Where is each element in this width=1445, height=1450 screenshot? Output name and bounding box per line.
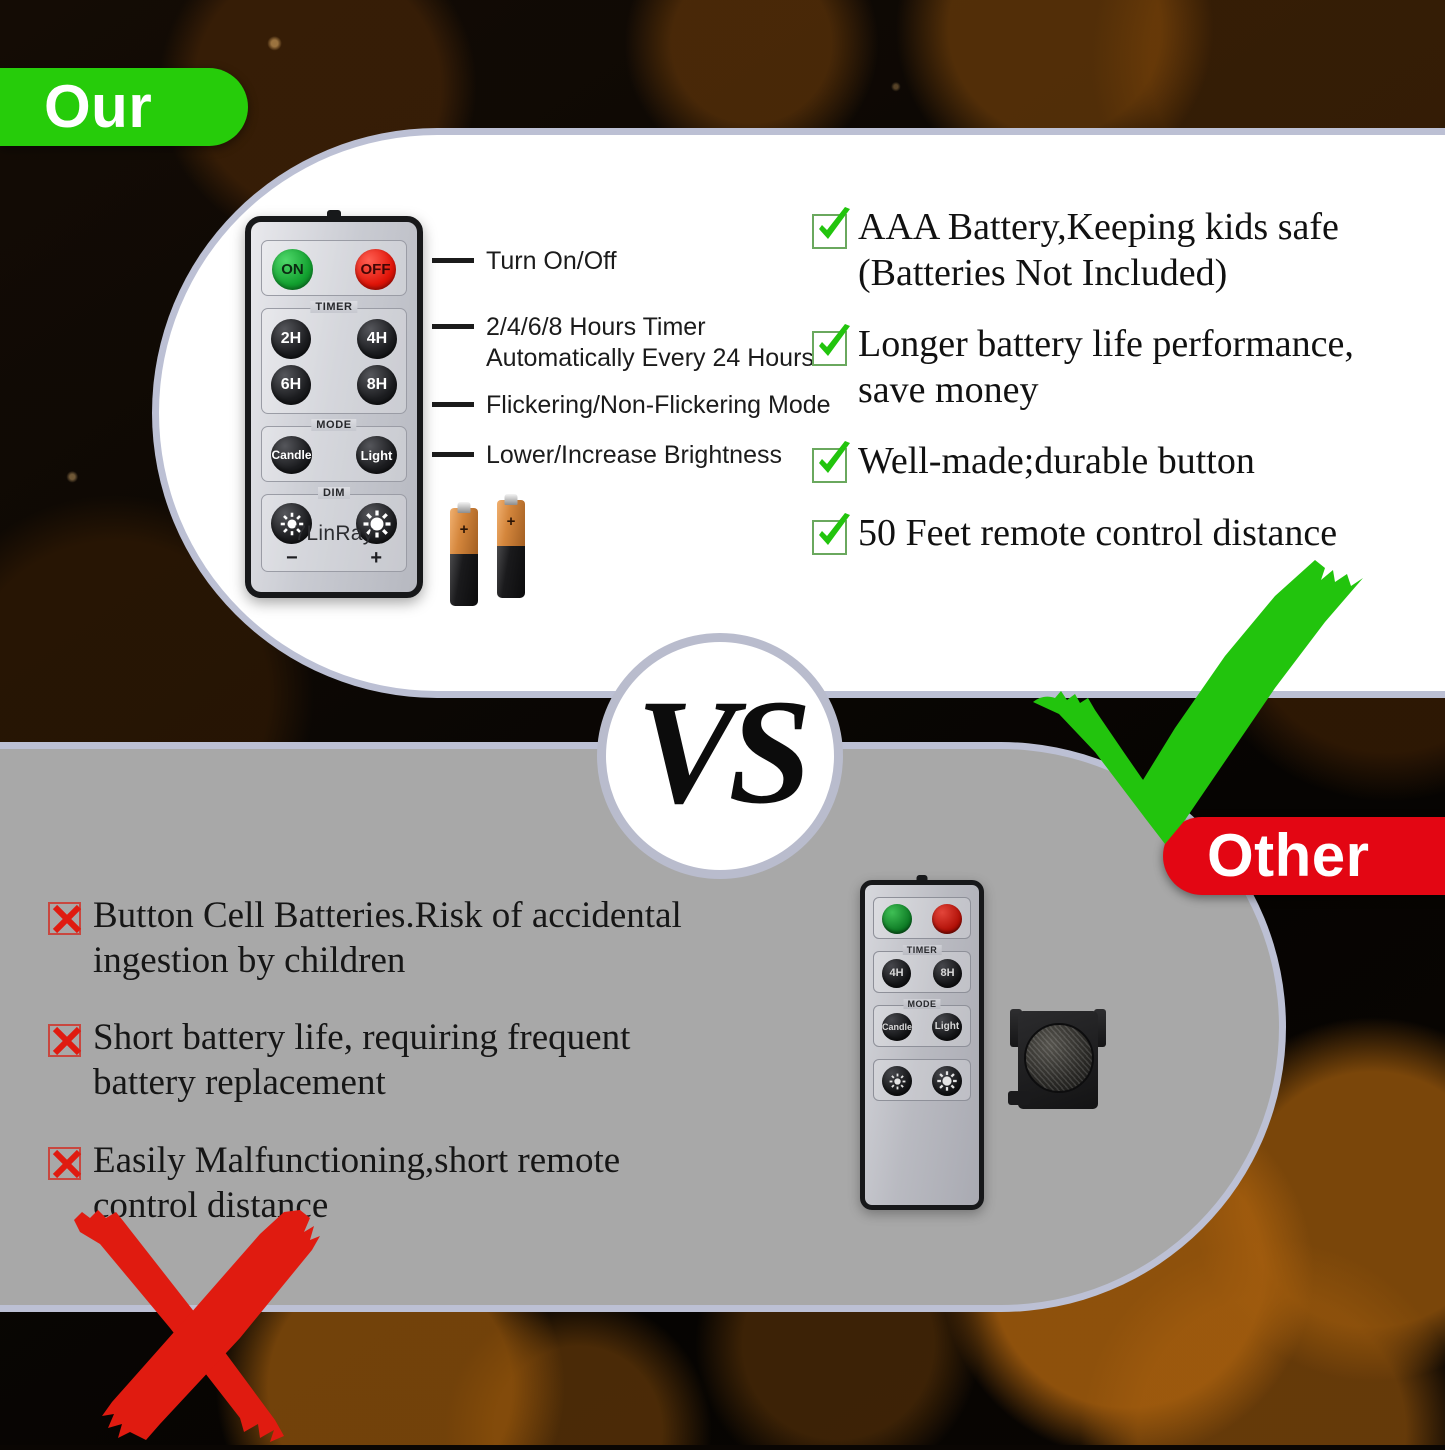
green-check-brush-icon	[1025, 548, 1370, 848]
callout-dim: Lower/Increase Brightness	[432, 440, 782, 471]
remote-ir-nub	[917, 875, 928, 882]
timer-4h-label: 4H	[367, 331, 387, 347]
pro-text: AAA Battery,Keeping kids safe (Batteries…	[858, 205, 1339, 296]
timer-8h-button[interactable]: 8H	[357, 365, 397, 405]
list-item: AAA Battery,Keeping kids safe (Batteries…	[812, 205, 1432, 296]
timer-8h-label: 8H	[940, 968, 954, 979]
dim-decrease-button[interactable]	[882, 1066, 912, 1096]
timer-8h-label: 8H	[367, 377, 387, 393]
dim-plus-label: +	[370, 548, 382, 568]
power-group	[873, 897, 971, 939]
callout-power: Turn On/Off	[432, 246, 617, 277]
list-item: Short battery life, requiring frequent b…	[48, 1015, 768, 1105]
on-button[interactable]: ON	[272, 249, 313, 290]
timer-2h-button[interactable]: 2H	[271, 319, 311, 359]
mode-light-label: Light	[361, 449, 393, 462]
mode-candle-button[interactable]: Candle	[882, 1013, 912, 1041]
timer-group: TIMER 4H 8H	[873, 951, 971, 993]
on-button[interactable]	[882, 904, 912, 934]
con-text: Button Cell Batteries.Risk of accidental…	[93, 893, 682, 983]
mode-group: MODE Candle Light	[261, 426, 407, 482]
mode-candle-label: Candle	[271, 449, 311, 461]
check-box	[812, 331, 847, 366]
timer-4h-label: 4H	[889, 968, 903, 979]
battery-plus-symbol: +	[507, 514, 516, 529]
timer-group: TIMER 2H 4H 6H 8H	[261, 308, 407, 414]
check-box	[812, 520, 847, 555]
timer-6h-button[interactable]: 6H	[271, 365, 311, 405]
battery-cap	[505, 494, 518, 505]
mode-group-label: MODE	[904, 999, 941, 1009]
button-cell-battery-holder	[1004, 1005, 1112, 1123]
callout-leader-line	[432, 324, 474, 329]
battery-plus-symbol: +	[460, 522, 469, 537]
con-text: Short battery life, requiring frequent b…	[93, 1015, 630, 1105]
competitor-remote-control: TIMER 4H 8H MODE Candle Light	[860, 880, 984, 1210]
vs-badge: VS	[597, 633, 843, 879]
remote-ir-nub	[327, 210, 341, 219]
mode-candle-label: Candle	[882, 1023, 912, 1032]
x-box	[48, 902, 81, 935]
cross-icon	[46, 1143, 88, 1185]
pros-list: AAA Battery,Keeping kids safe (Batteries…	[812, 205, 1432, 583]
aaa-battery: +	[497, 500, 525, 598]
x-box	[48, 1147, 81, 1180]
timer-6h-label: 6H	[281, 377, 301, 393]
list-item: Longer battery life performance, save mo…	[812, 322, 1432, 413]
battery-body	[497, 546, 525, 598]
remote-brand-label: 7LinRay	[251, 522, 417, 546]
check-icon	[809, 321, 857, 369]
mode-candle-button[interactable]: Candle	[271, 436, 312, 474]
button-cell-disc	[1024, 1023, 1094, 1093]
check-box	[812, 448, 847, 483]
check-icon	[809, 438, 857, 486]
battery-body	[450, 554, 478, 606]
off-button[interactable]	[932, 904, 962, 934]
timer-8h-button[interactable]: 8H	[933, 959, 962, 988]
mode-light-button[interactable]: Light	[932, 1013, 962, 1041]
timer-group-label: TIMER	[310, 301, 357, 313]
timer-4h-button[interactable]: 4H	[357, 319, 397, 359]
callout-power-text: Turn On/Off	[486, 246, 617, 277]
dim-increase-button[interactable]	[932, 1066, 962, 1096]
callout-timer-text: 2/4/6/8 Hours Timer Automatically Every …	[486, 312, 814, 373]
battery-positive-end: +	[450, 508, 478, 554]
mode-light-button[interactable]: Light	[356, 436, 397, 474]
our-badge: Our	[0, 68, 248, 146]
callout-mode-text: Flickering/Non-Flickering Mode	[486, 390, 831, 421]
red-x-brush-icon	[60, 1192, 335, 1450]
mode-group-label: MODE	[311, 419, 356, 431]
our-remote-control: ON OFF TIMER 2H 4H 6H 8H MODE Candle Lig…	[245, 216, 423, 598]
on-button-label: ON	[281, 262, 304, 277]
callout-dim-text: Lower/Increase Brightness	[486, 440, 782, 471]
mode-light-label: Light	[935, 1022, 959, 1032]
dim-minus-label: −	[286, 548, 298, 568]
mode-group: MODE Candle Light	[873, 1005, 971, 1047]
timer-2h-label: 2H	[281, 331, 301, 347]
aaa-battery: +	[450, 508, 478, 606]
sun-large-icon	[936, 1070, 958, 1092]
list-item: Well-made;durable button	[812, 439, 1432, 485]
check-icon	[809, 510, 857, 558]
dim-group-label: DIM	[318, 487, 350, 499]
callout-leader-line	[432, 452, 474, 457]
sun-small-icon	[888, 1072, 907, 1091]
off-button[interactable]: OFF	[355, 249, 396, 290]
callout-leader-line	[432, 258, 474, 263]
cross-icon	[46, 1020, 88, 1062]
battery-positive-end: +	[497, 500, 525, 546]
holder-tab	[1008, 1091, 1030, 1105]
pro-text: Well-made;durable button	[858, 439, 1255, 485]
dim-group	[873, 1059, 971, 1101]
pro-text: Longer battery life performance, save mo…	[858, 322, 1354, 413]
vs-label: VS	[636, 677, 803, 827]
our-badge-label: Our	[44, 77, 152, 137]
callout-leader-line	[432, 402, 474, 407]
callout-timer: 2/4/6/8 Hours Timer Automatically Every …	[432, 312, 814, 373]
callout-mode: Flickering/Non-Flickering Mode	[432, 390, 831, 421]
check-icon	[809, 204, 857, 252]
off-button-label: OFF	[361, 262, 391, 277]
list-item: Button Cell Batteries.Risk of accidental…	[48, 893, 768, 983]
check-box	[812, 214, 847, 249]
power-group: ON OFF	[261, 240, 407, 296]
timer-4h-button[interactable]: 4H	[882, 959, 911, 988]
x-box	[48, 1024, 81, 1057]
timer-group-label: TIMER	[903, 945, 942, 955]
battery-cap	[458, 502, 471, 513]
cross-icon	[46, 898, 88, 940]
